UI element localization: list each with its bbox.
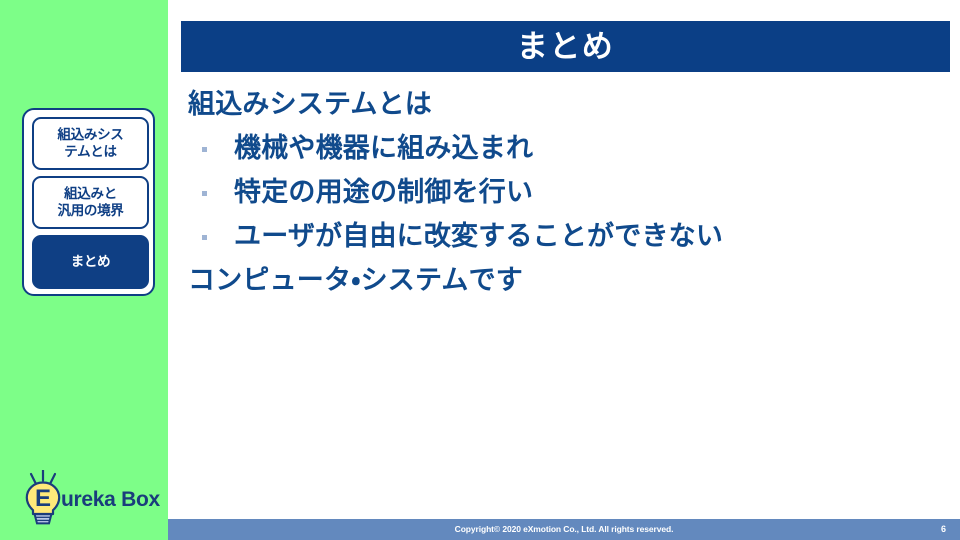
lightbulb-icon: E ureka Box [22, 470, 162, 528]
sidebar-item-label-line2: 汎用の境界 [58, 203, 124, 218]
body-bullet-2: 特定の用途の制御を行い [188, 170, 928, 214]
body-line-tail: コンピュータ・システムです [188, 258, 928, 302]
body-line-text: コンピュータ・システムです [188, 258, 523, 302]
slide-title-bar: まとめ [181, 21, 950, 72]
sidebar-item-embedded-vs-general[interactable]: 組込みと 汎用の境界 [32, 176, 149, 229]
bullet-icon [202, 147, 207, 152]
eureka-box-logo: E ureka Box [22, 470, 162, 528]
body-line-text: 組込みシステムとは [188, 82, 432, 126]
sidebar-item-label: 組込みシス テムとは [58, 127, 124, 160]
slide-canvas: 組込みシス テムとは 組込みと 汎用の境界 まとめ [0, 0, 960, 540]
sidebar-item-label-line1: 組込みシス [58, 127, 124, 142]
footer-copyright: Copyright© 2020 eXmotion Co., Ltd. All r… [168, 519, 960, 540]
sidebar-item-label: まとめ [71, 254, 111, 270]
sidebar-item-label: 組込みと 汎用の境界 [58, 186, 124, 219]
footer-page-number: 6 [941, 519, 946, 540]
bullet-icon [202, 235, 207, 240]
logo-wordmark: ureka Box [61, 488, 160, 511]
body-line-text: 特定の用途の制御を行い [234, 170, 533, 214]
body-line-text: 機械や機器に組み込まれ [234, 126, 533, 170]
logo-letter-e: E [35, 485, 51, 512]
body-line-lead: 組込みシステムとは [188, 82, 928, 126]
sidebar-nav-container: 組込みシス テムとは 組込みと 汎用の境界 まとめ [22, 108, 155, 296]
sidebar: 組込みシス テムとは 組込みと 汎用の境界 まとめ [0, 0, 168, 540]
page-title: まとめ [517, 31, 615, 62]
body-line-text: ユーザが自由に改変することができない [234, 214, 723, 258]
sidebar-item-embedded-system-intro[interactable]: 組込みシス テムとは [32, 117, 149, 170]
bullet-icon [202, 191, 207, 196]
sidebar-item-label-line1: 組込みと [64, 186, 117, 201]
footer-bar: Copyright© 2020 eXmotion Co., Ltd. All r… [168, 519, 960, 540]
body-bullet-1: 機械や機器に組み込まれ [188, 126, 928, 170]
sidebar-item-summary[interactable]: まとめ [32, 235, 149, 289]
sidebar-item-label-line2: テムとは [64, 144, 116, 159]
body-bullet-3: ユーザが自由に改変することができない [188, 214, 928, 258]
slide-body: 組込みシステムとは 機械や機器に組み込まれ 特定の用途の制御を行い ユーザが自由… [188, 82, 928, 302]
